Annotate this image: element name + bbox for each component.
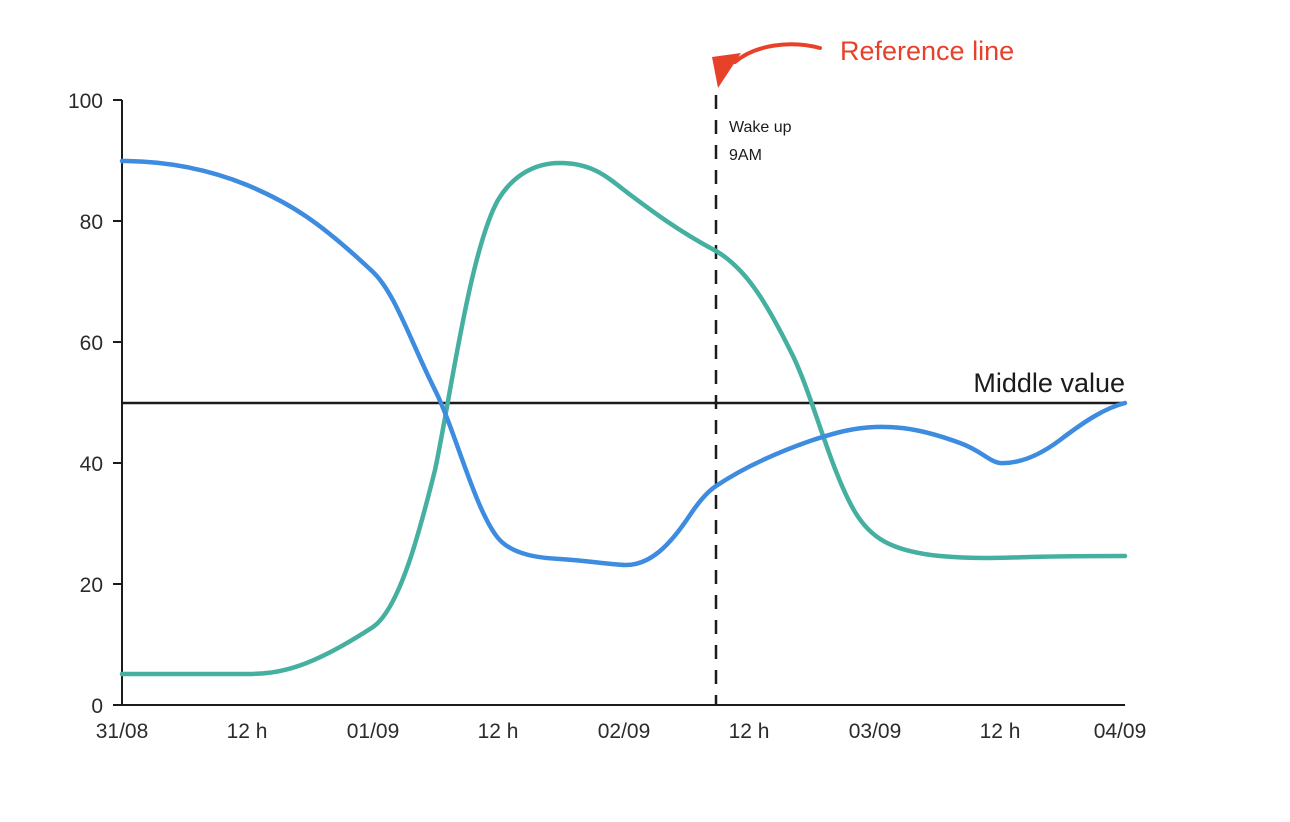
x-tick-label-5: 12 h [729,720,770,743]
x-tick-label-2: 01/09 [347,720,400,743]
x-tick-label-6: 03/09 [849,720,902,743]
line-chart: 100 80 60 40 20 0 31/08 12 h 01/09 12 h … [0,0,1290,822]
blue-series-line [122,161,1125,565]
y-tick-label-60: 60 [80,332,103,355]
reference-line-annotation-label: Reference line [840,36,1014,66]
x-tick-label-1: 12 h [227,720,268,743]
x-tick-label-4: 02/09 [598,720,651,743]
y-tick-label-20: 20 [80,574,103,597]
x-tick-label-0: 31/08 [96,720,149,743]
y-tick-label-100: 100 [68,90,103,113]
y-axis-ticks [113,100,122,705]
x-tick-label-7: 12 h [980,720,1021,743]
chart-canvas: 100 80 60 40 20 0 31/08 12 h 01/09 12 h … [0,0,1290,822]
reference-line-arrow-icon [712,44,820,88]
x-tick-label-3: 12 h [478,720,519,743]
wake-up-label-line2: 9AM [729,147,762,164]
x-tick-label-8: 04/09 [1094,720,1147,743]
middle-value-label: Middle value [973,368,1125,398]
y-tick-label-40: 40 [80,453,103,476]
teal-series-line [122,163,1125,674]
y-tick-label-0: 0 [91,695,103,718]
wake-up-label-line1: Wake up [729,119,792,136]
y-tick-label-80: 80 [80,211,103,234]
